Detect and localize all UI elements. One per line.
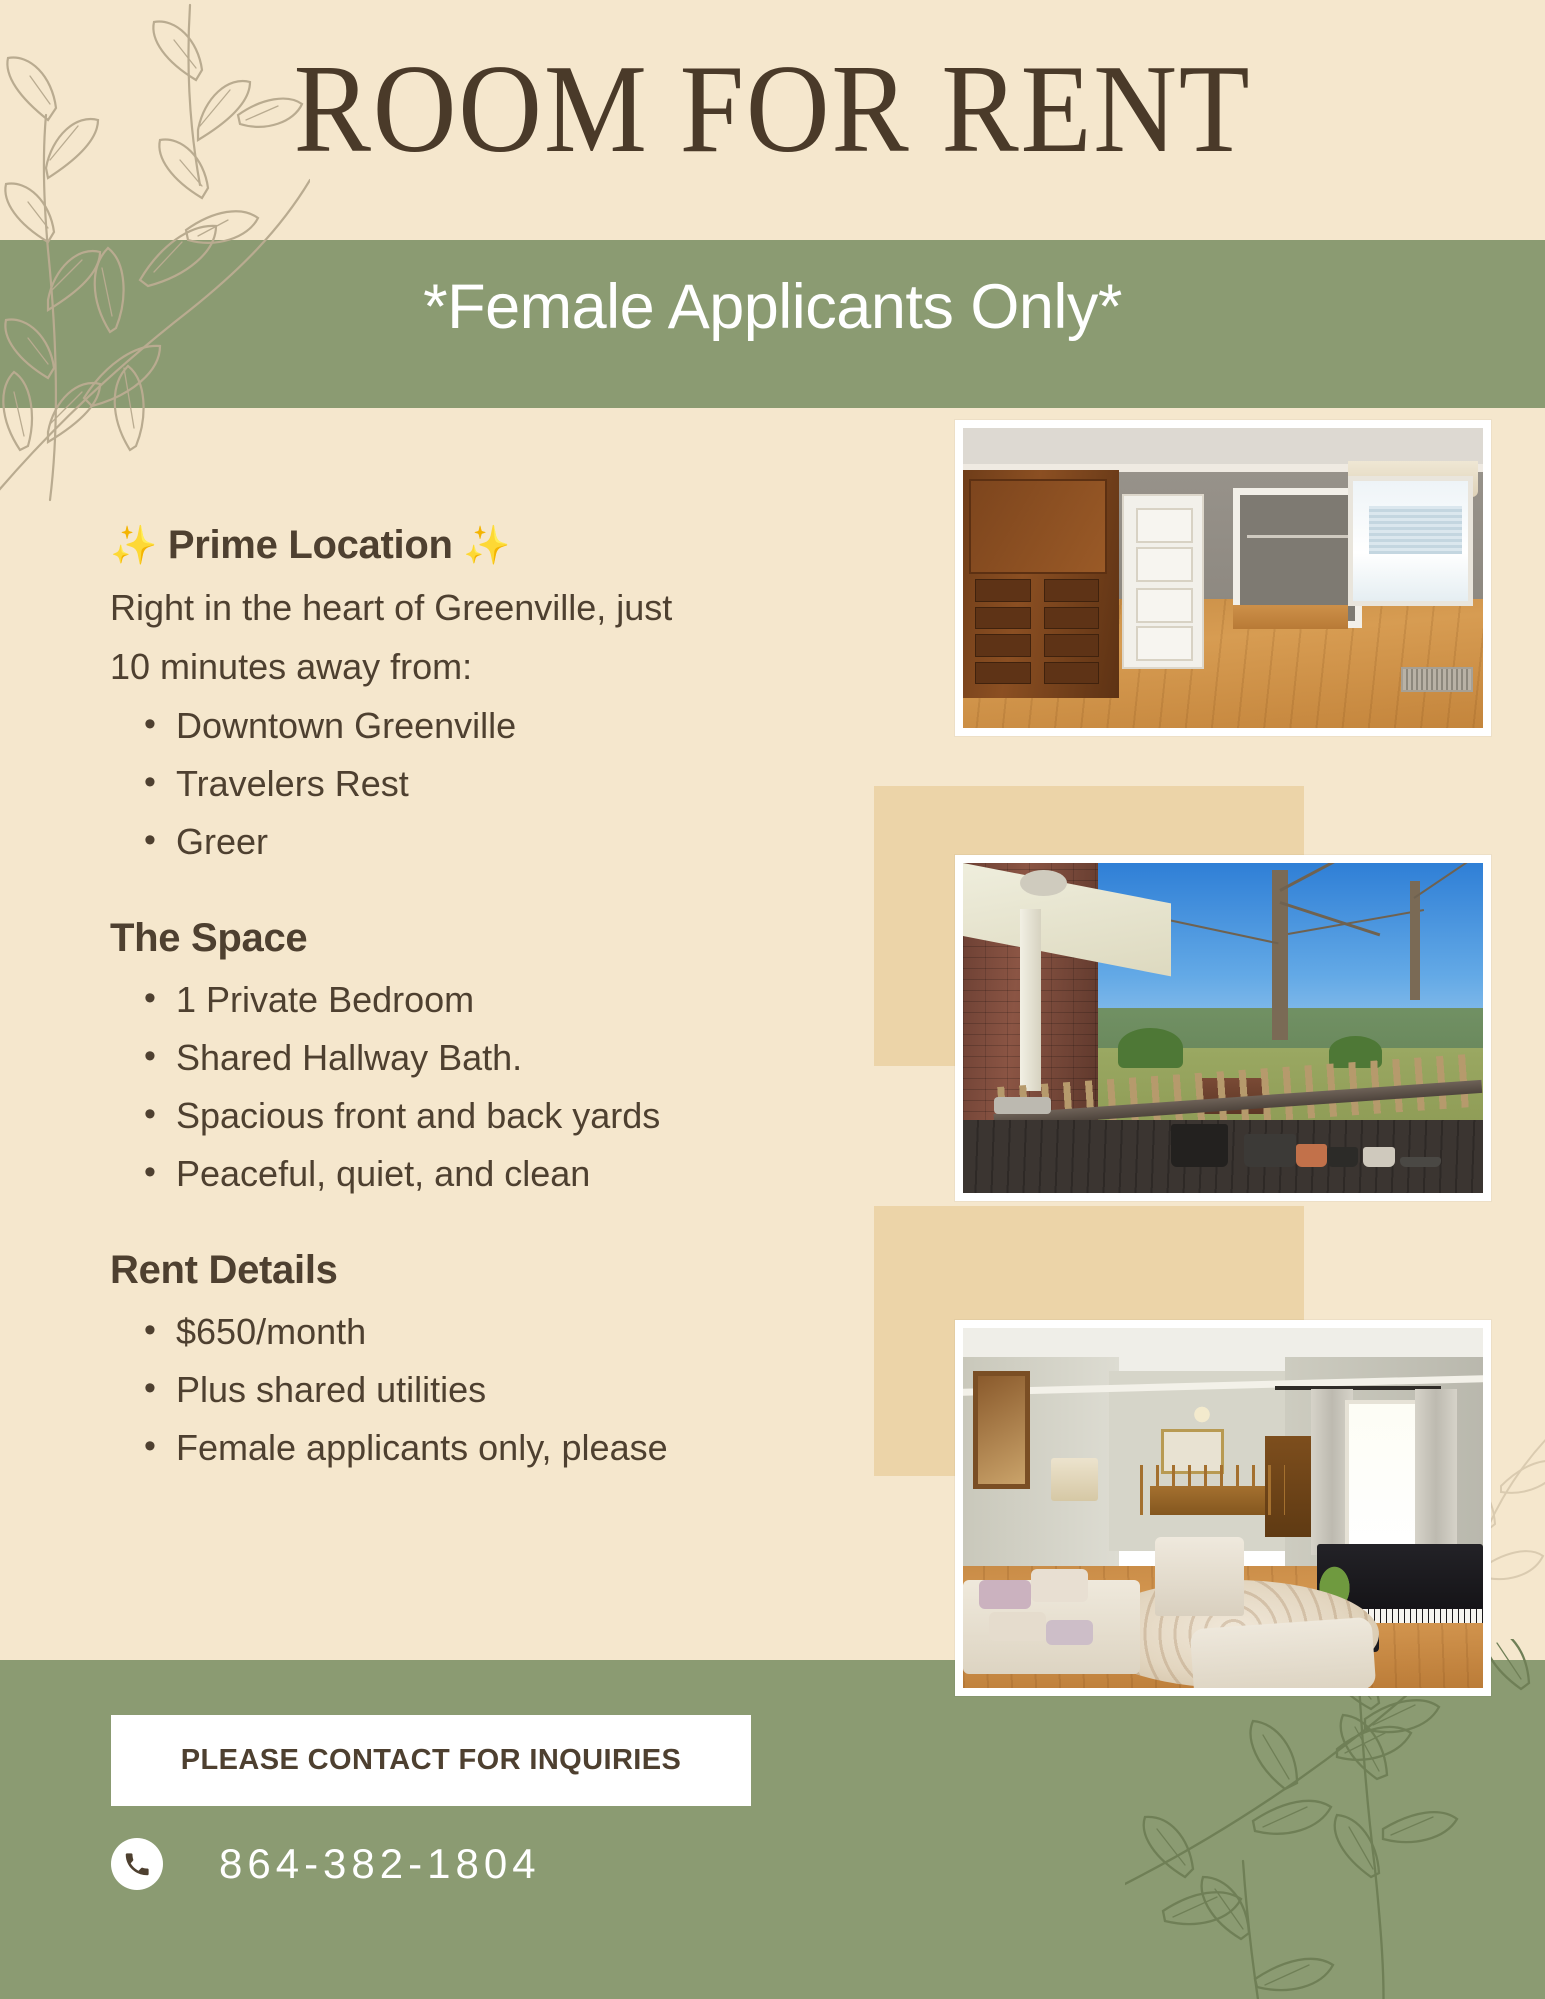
location-bullet-list: Downtown Greenville Travelers Rest Greer bbox=[110, 697, 870, 871]
list-item: Greer bbox=[176, 813, 870, 871]
section-rent-details: Rent Details $650/month Plus shared util… bbox=[110, 1245, 870, 1477]
section-title-the-space: The Space bbox=[110, 913, 870, 963]
space-bullet-list: 1 Private Bedroom Shared Hallway Bath. S… bbox=[110, 971, 870, 1203]
location-description-line-2: 10 minutes away from: bbox=[110, 638, 870, 695]
location-description-line-1: Right in the heart of Greenville, just bbox=[110, 579, 870, 636]
deck-photo-image bbox=[963, 863, 1483, 1193]
list-item: Female applicants only, please bbox=[176, 1419, 870, 1477]
phone-icon bbox=[111, 1838, 163, 1890]
list-item: Spacious front and back yards bbox=[176, 1087, 870, 1145]
list-item: 1 Private Bedroom bbox=[176, 971, 870, 1029]
section-title-rent-details: Rent Details bbox=[110, 1245, 870, 1295]
deck-photo bbox=[955, 855, 1491, 1201]
subtitle-female-applicants-only: *Female Applicants Only* bbox=[0, 268, 1545, 346]
details-column: ✨ Prime Location ✨ Right in the heart of… bbox=[110, 520, 870, 1477]
room-for-rent-flyer: ROOM FOR RENT *Female Applicants Only* ✨… bbox=[0, 0, 1545, 1999]
green-footer-band bbox=[0, 1660, 1545, 1999]
section-title-prime-location: ✨ Prime Location ✨ bbox=[110, 520, 870, 571]
page-title: ROOM FOR RENT bbox=[62, 44, 1483, 176]
section-the-space: The Space 1 Private Bedroom Shared Hallw… bbox=[110, 913, 870, 1203]
bedroom-photo-image bbox=[963, 428, 1483, 728]
list-item: Travelers Rest bbox=[176, 755, 870, 813]
bedroom-photo bbox=[955, 420, 1491, 736]
contact-banner-label: PLEASE CONTACT FOR INQUIRIES bbox=[181, 1744, 681, 1777]
contact-banner[interactable]: PLEASE CONTACT FOR INQUIRIES bbox=[111, 1715, 751, 1806]
living-room-photo bbox=[955, 1320, 1491, 1696]
phone-contact-row[interactable]: 864-382-1804 bbox=[111, 1838, 541, 1890]
phone-number-text: 864-382-1804 bbox=[219, 1840, 541, 1888]
list-item: Downtown Greenville bbox=[176, 697, 870, 755]
list-item: $650/month bbox=[176, 1303, 870, 1361]
sparkles-icon-left: ✨ bbox=[110, 525, 157, 567]
living-room-photo-image bbox=[963, 1328, 1483, 1688]
section-title-text: Prime Location bbox=[168, 523, 453, 567]
sparkles-icon-right: ✨ bbox=[463, 525, 510, 567]
rent-bullet-list: $650/month Plus shared utilities Female … bbox=[110, 1303, 870, 1477]
list-item: Shared Hallway Bath. bbox=[176, 1029, 870, 1087]
section-prime-location: ✨ Prime Location ✨ Right in the heart of… bbox=[110, 520, 870, 871]
list-item: Peaceful, quiet, and clean bbox=[176, 1145, 870, 1203]
list-item: Plus shared utilities bbox=[176, 1361, 870, 1419]
